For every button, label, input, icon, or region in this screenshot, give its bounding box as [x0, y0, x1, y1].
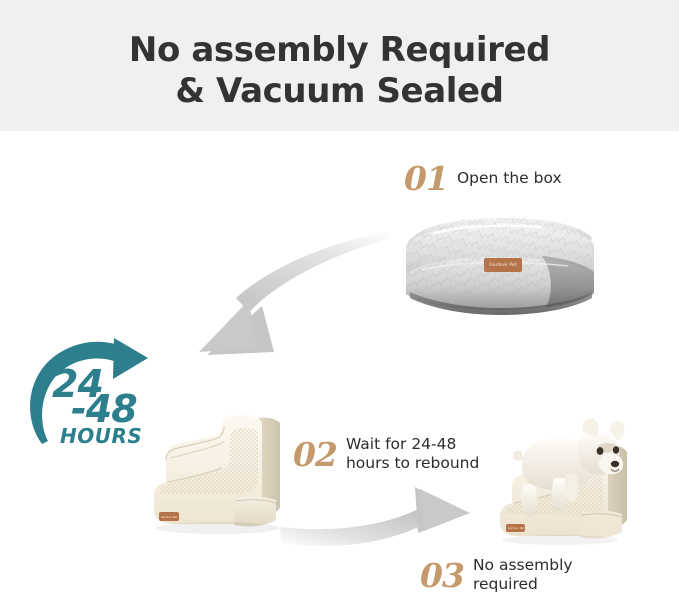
package-brand-tag-label: Gardner Pet: [489, 262, 516, 268]
infographic-canvas: No assembly Required & Vacuum Sealed: [0, 0, 679, 608]
badge-line-hours: HOURS: [60, 426, 142, 446]
dog-on-stairs-image: Gardner Pet: [494, 412, 654, 548]
pet-stairs-image: Gardner Pet: [148, 404, 328, 544]
stairs-brand-tag: Gardner Pet: [159, 512, 179, 521]
step-03-number: 03: [420, 559, 464, 592]
step-02-label: Wait for 24-48 hours to rebound: [346, 435, 479, 473]
package-brand-tag: Gardner Pet: [484, 258, 522, 272]
badge-line-48: -48: [71, 390, 137, 428]
step-01-label: Open the box: [457, 169, 562, 188]
step-03: 03 No assembly required: [420, 556, 573, 594]
step-03-label: No assembly required: [473, 556, 573, 594]
dog-stairs-brand-tag-label: Gardner Pet: [507, 526, 523, 530]
stairs-brand-tag-label: Gardner Pet: [161, 515, 177, 519]
dog-stairs-brand-tag: Gardner Pet: [506, 524, 525, 532]
step-01: 01 Open the box: [404, 162, 562, 195]
step-01-number: 01: [404, 162, 448, 195]
page-title: No assembly Required & Vacuum Sealed: [0, 30, 679, 112]
vacuum-sealed-package-image: Gardner Pet: [392, 212, 604, 325]
curved-arrow-down-left-icon: [199, 232, 392, 355]
